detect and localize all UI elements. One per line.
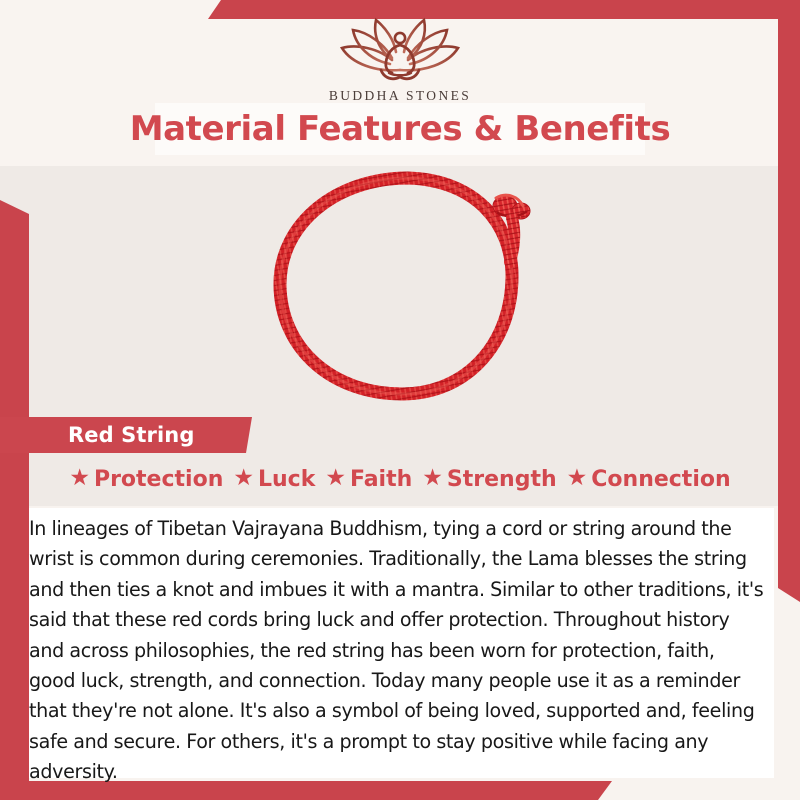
feature-label: Luck: [258, 467, 315, 492]
feature-label: Faith: [350, 467, 412, 492]
material-tag-label: Red String: [68, 423, 194, 447]
star-icon: ★: [567, 467, 588, 490]
brand-name: BUDDHA STONES: [329, 88, 471, 104]
star-icon: ★: [69, 467, 90, 490]
feature-label: Strength: [447, 467, 557, 492]
title-banner: Material Features & Benefits: [155, 103, 645, 155]
description-panel: In lineages of Tibetan Vajrayana Buddhis…: [29, 508, 774, 778]
star-icon: ★: [422, 467, 443, 490]
page-title: Material Features & Benefits: [130, 109, 671, 149]
brand-logo: BUDDHA STONES: [0, 14, 800, 104]
feature-item-connection: ★ Connection: [562, 467, 736, 492]
material-tag: Red String: [0, 417, 252, 453]
star-icon: ★: [233, 467, 254, 490]
feature-item-luck: ★ Luck: [228, 467, 320, 492]
description-text: In lineages of Tibetan Vajrayana Buddhis…: [29, 514, 766, 788]
infographic-page: BUDDHA STONES Material Features & Benefi…: [0, 0, 800, 800]
feature-item-strength: ★ Strength: [417, 467, 561, 492]
feature-label: Protection: [94, 467, 223, 492]
feature-item-protection: ★ Protection: [64, 467, 228, 492]
lotus-meditation-icon: [326, 14, 474, 84]
red-string-bracelet-icon: [240, 166, 560, 416]
star-icon: ★: [325, 467, 346, 490]
product-image: [0, 166, 800, 416]
feature-label: Connection: [591, 467, 730, 492]
feature-item-faith: ★ Faith: [320, 467, 417, 492]
feature-list: ★ Protection ★ Luck ★ Faith ★ Strength ★…: [0, 467, 800, 492]
